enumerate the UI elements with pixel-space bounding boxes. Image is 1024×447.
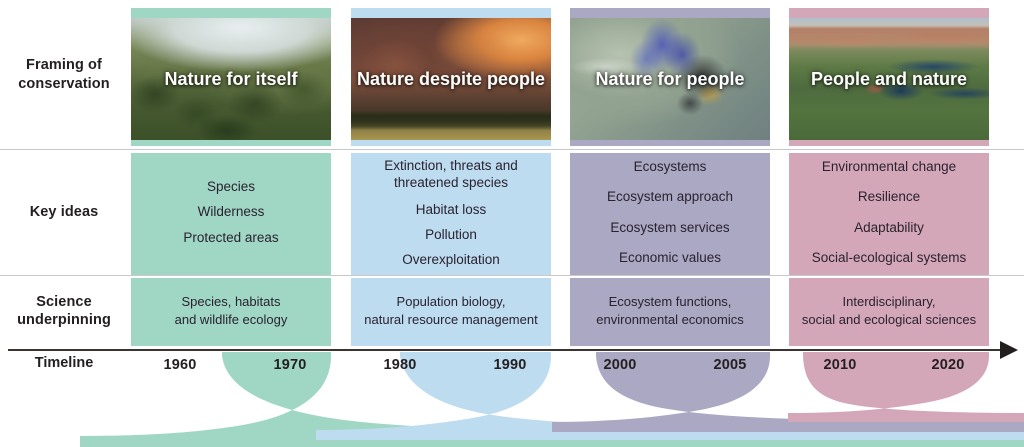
key-idea-item: Ecosystem services	[610, 221, 729, 235]
timeline-year: 1970	[250, 357, 330, 373]
key-idea-item: Environmental change	[822, 160, 956, 174]
key-idea-item: Social-ecological systems	[812, 251, 967, 265]
science-line-1: Population biology,	[397, 293, 506, 311]
science-nature-despite-people: Population biology, natural resource man…	[351, 276, 551, 346]
science-line-1: Ecosystem functions,	[609, 293, 732, 311]
timeline-axis	[8, 349, 1008, 351]
key-idea-item: Species	[207, 180, 255, 194]
framing-photo-nature-despite-people: Nature despite people	[351, 18, 551, 140]
key-idea-item: Pollution	[425, 228, 477, 242]
science-nature-for-itself: Species, habitats and wildlife ecology	[131, 276, 331, 346]
framing-caption: Nature for people	[589, 69, 750, 90]
row-label-line-2: conservation	[18, 76, 109, 92]
timeline-year: 1980	[360, 357, 440, 373]
key-ideas-people-and-nature: Environmental change Resilience Adaptabi…	[789, 150, 989, 275]
timeline-year: 2010	[800, 357, 880, 373]
timeline-year: 1960	[140, 357, 220, 373]
row-label-text: Key ideas	[30, 203, 99, 221]
science-line-2: social and ecological sciences	[802, 311, 976, 329]
row-label-line-1: Framing of	[26, 57, 102, 73]
framing-caption: Nature for itself	[158, 69, 303, 90]
key-idea-item: Economic values	[619, 251, 721, 265]
framing-caption: People and nature	[805, 69, 973, 90]
framing-caption: Nature despite people	[351, 69, 551, 90]
key-idea-item: Protected areas	[183, 231, 278, 245]
key-ideas-nature-for-people: Ecosystems Ecosystem approach Ecosystem …	[570, 150, 770, 275]
framing-photo-nature-for-people: Nature for people	[570, 18, 770, 140]
science-line-2: environmental economics	[596, 311, 743, 329]
key-idea-item: Ecosystem approach	[607, 190, 733, 204]
timeline-year: 2000	[580, 357, 660, 373]
key-idea-item: Habitat loss	[416, 203, 487, 217]
framing-photo-people-and-nature: People and nature	[789, 18, 989, 140]
row-label-line-1: Science	[36, 294, 92, 310]
science-line-2: and wildlife ecology	[175, 311, 288, 329]
key-idea-item: Wilderness	[198, 205, 265, 219]
row-label-science-underpinning: Science underpinning	[0, 276, 128, 346]
timeline-year: 2020	[908, 357, 988, 373]
timeline-year: 1990	[470, 357, 550, 373]
row-label-timeline: Timeline	[0, 355, 128, 371]
framing-photo-nature-for-itself: Nature for itself	[131, 18, 331, 140]
key-ideas-nature-for-itself: Species Wilderness Protected areas	[131, 150, 331, 275]
key-idea-item: Resilience	[858, 190, 920, 204]
conservation-framing-figure: Framing of conservation Nature for itsel…	[0, 0, 1024, 447]
key-idea-item: Overexploitation	[402, 253, 500, 267]
science-line-1: Interdisciplinary,	[843, 293, 936, 311]
key-idea-item: Extinction, threats and threatened speci…	[366, 158, 536, 192]
science-people-and-nature: Interdisciplinary, social and ecological…	[789, 276, 989, 346]
row-label-key-ideas: Key ideas	[0, 150, 128, 275]
key-idea-item: Ecosystems	[634, 160, 707, 174]
science-line-2: natural resource management	[364, 311, 537, 329]
science-line-1: Species, habitats	[181, 293, 280, 311]
key-ideas-nature-despite-people: Extinction, threats and threatened speci…	[351, 150, 551, 275]
right-arrow-icon	[1000, 341, 1018, 359]
key-idea-item: Adaptability	[854, 221, 924, 235]
row-label-framing-of-conservation: Framing of conservation	[0, 0, 128, 149]
science-nature-for-people: Ecosystem functions, environmental econo…	[570, 276, 770, 346]
row-label-line-2: underpinning	[17, 312, 111, 328]
timeline-year: 2005	[690, 357, 770, 373]
